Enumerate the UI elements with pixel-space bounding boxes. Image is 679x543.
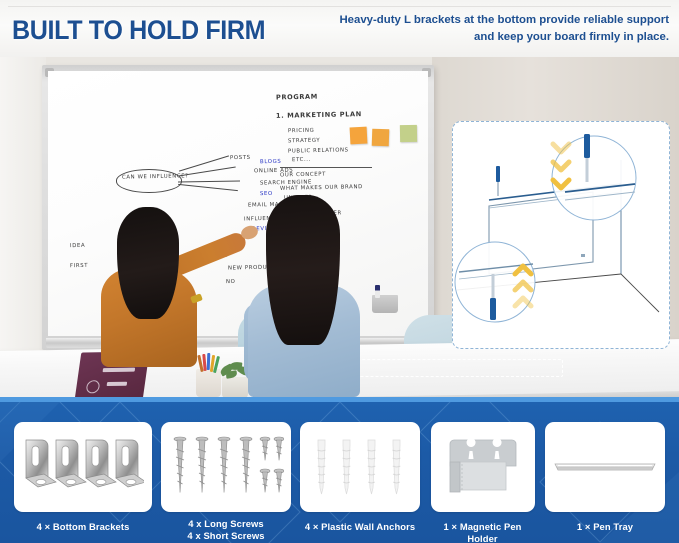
hardware-item-screws[interactable]: 4 x Long Screws 4 x Short Screws <box>161 422 291 542</box>
pen-holder-label: 1 × Magnetic Pen Holder <box>429 521 536 543</box>
wall-anchors-label: 4 × Plastic Wall Anchors <box>305 521 415 533</box>
installation-diagram-panel <box>452 121 670 349</box>
note-lower-1: FIRST <box>70 263 88 269</box>
pen-tray-icon <box>553 454 657 480</box>
pen-cup <box>196 369 221 397</box>
note-right-heading: PROGRAM <box>276 93 318 102</box>
mindmap-connector <box>178 180 240 182</box>
pen-tray-label: 1 × Pen Tray <box>577 521 633 533</box>
sticker-bar <box>103 368 136 373</box>
mindmap-bubble <box>116 169 182 193</box>
bottom-brackets-label: 4 × Bottom Brackets <box>37 521 130 533</box>
note-underline <box>280 167 372 168</box>
hardware-band: 4 × Bottom Brackets <box>0 397 679 543</box>
installation-diagram-svg <box>453 122 670 349</box>
hardware-card-row: 4 × Bottom Brackets <box>0 402 679 543</box>
mindmap-connector <box>178 184 238 191</box>
header-bar: BUILT TO HOLD FIRM Heavy-duty L brackets… <box>0 0 679 57</box>
hardware-item-bottom-brackets[interactable]: 4 × Bottom Brackets <box>14 422 152 533</box>
board-bottom-screw <box>581 254 585 257</box>
marker-pen <box>375 285 380 298</box>
screws-card[interactable] <box>161 422 291 512</box>
hardware-item-wall-anchors[interactable]: 4 × Plastic Wall Anchors <box>300 422 420 533</box>
hardware-item-pen-holder[interactable]: 1 × Magnetic Pen Holder <box>429 422 536 543</box>
pen-holder-card[interactable] <box>431 422 535 512</box>
hardware-item-pen-tray[interactable]: 1 × Pen Tray <box>545 422 665 533</box>
pen-tray-card[interactable] <box>545 422 665 512</box>
wall-left <box>0 57 46 357</box>
hair <box>266 195 340 345</box>
person-in-denim-shirt <box>248 195 360 397</box>
header-subtitle: Heavy-duty L brackets at the bottom prov… <box>329 12 669 45</box>
note-lower-4: NO <box>226 279 236 285</box>
wall-anchors-card[interactable] <box>300 422 420 512</box>
leaf <box>226 370 238 378</box>
note-right-6: WHAT MAKES OUR BRAND <box>280 184 363 192</box>
note-right-0: 1. MARKETING PLAN <box>276 110 362 120</box>
bottom-brackets-card[interactable] <box>14 422 152 512</box>
note-right-3: PUBLIC RELATIONS <box>288 147 349 154</box>
note-right-4: ETC... <box>292 157 311 163</box>
note-lower-0: IDEA <box>70 243 85 249</box>
note-branch-0: POSTS <box>230 155 251 161</box>
screws-label-line1: 4 x Long Screws <box>187 518 264 530</box>
sticky-note-orange <box>372 129 390 147</box>
note-right-2: STRATEGY <box>288 138 320 145</box>
note-right-5: OUR CONCEPT <box>280 172 326 179</box>
infographic-page: BUILT TO HOLD FIRM Heavy-duty L brackets… <box>0 0 679 543</box>
sticker-bar <box>107 382 128 386</box>
office-photo: CAN WE INFLUENCE? POSTS BLOGS ONLINE ADS… <box>0 57 679 397</box>
screw-icon <box>168 431 284 503</box>
screws-label: 4 x Long Screws 4 x Short Screws <box>187 518 264 542</box>
screws-label-line2: 4 x Short Screws <box>187 530 264 542</box>
wall-anchor-icon <box>308 434 412 500</box>
page-title: BUILT TO HOLD FIRM <box>12 15 265 46</box>
hair <box>117 207 179 319</box>
sticker-circle-icon <box>86 380 101 393</box>
note-right-1: PRICING <box>288 128 314 135</box>
potted-plant <box>222 377 248 397</box>
top-screwdriver <box>496 166 500 196</box>
l-bracket-icon <box>22 434 144 500</box>
sticky-note-green <box>400 125 417 142</box>
note-branch-1: BLOGS <box>260 159 281 165</box>
magnetic-pen-holder-icon <box>440 434 526 500</box>
sticky-note-orange <box>350 127 368 145</box>
